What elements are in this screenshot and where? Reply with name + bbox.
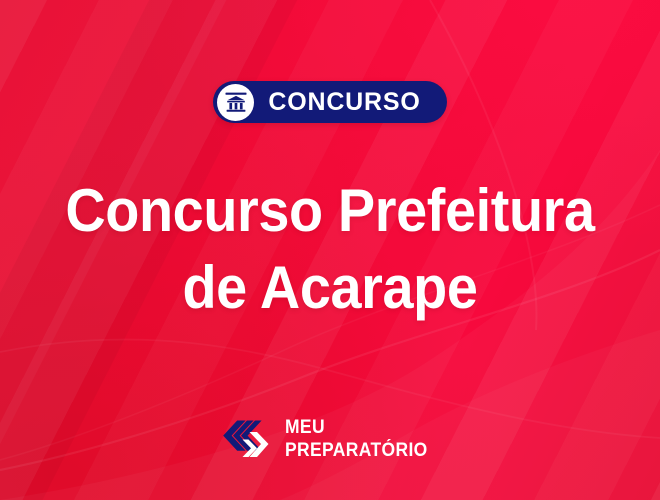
brand-logo-line-2: PREPARATÓRIO [285,441,428,460]
chevron-arrow-mark [220,419,272,459]
badge-container: CONCURSO [0,81,660,123]
brand-logo-line-1: MEU [285,418,428,437]
concurso-badge[interactable]: CONCURSO [213,81,446,123]
brand-logo[interactable]: MEU PREPARATÓRIO [0,418,660,460]
badge-label: CONCURSO [268,90,420,115]
brand-logo-text: MEU PREPARATÓRIO [285,418,440,460]
bank-building-icon [217,84,254,121]
page-title: Concurso Prefeiturade Acarape [23,173,637,327]
promo-banner: CONCURSO Concurso Prefeiturade Acarape M… [0,0,660,500]
title-line-2: de Acarape [182,254,477,321]
title-line-1: Concurso Prefeitura [65,177,594,244]
